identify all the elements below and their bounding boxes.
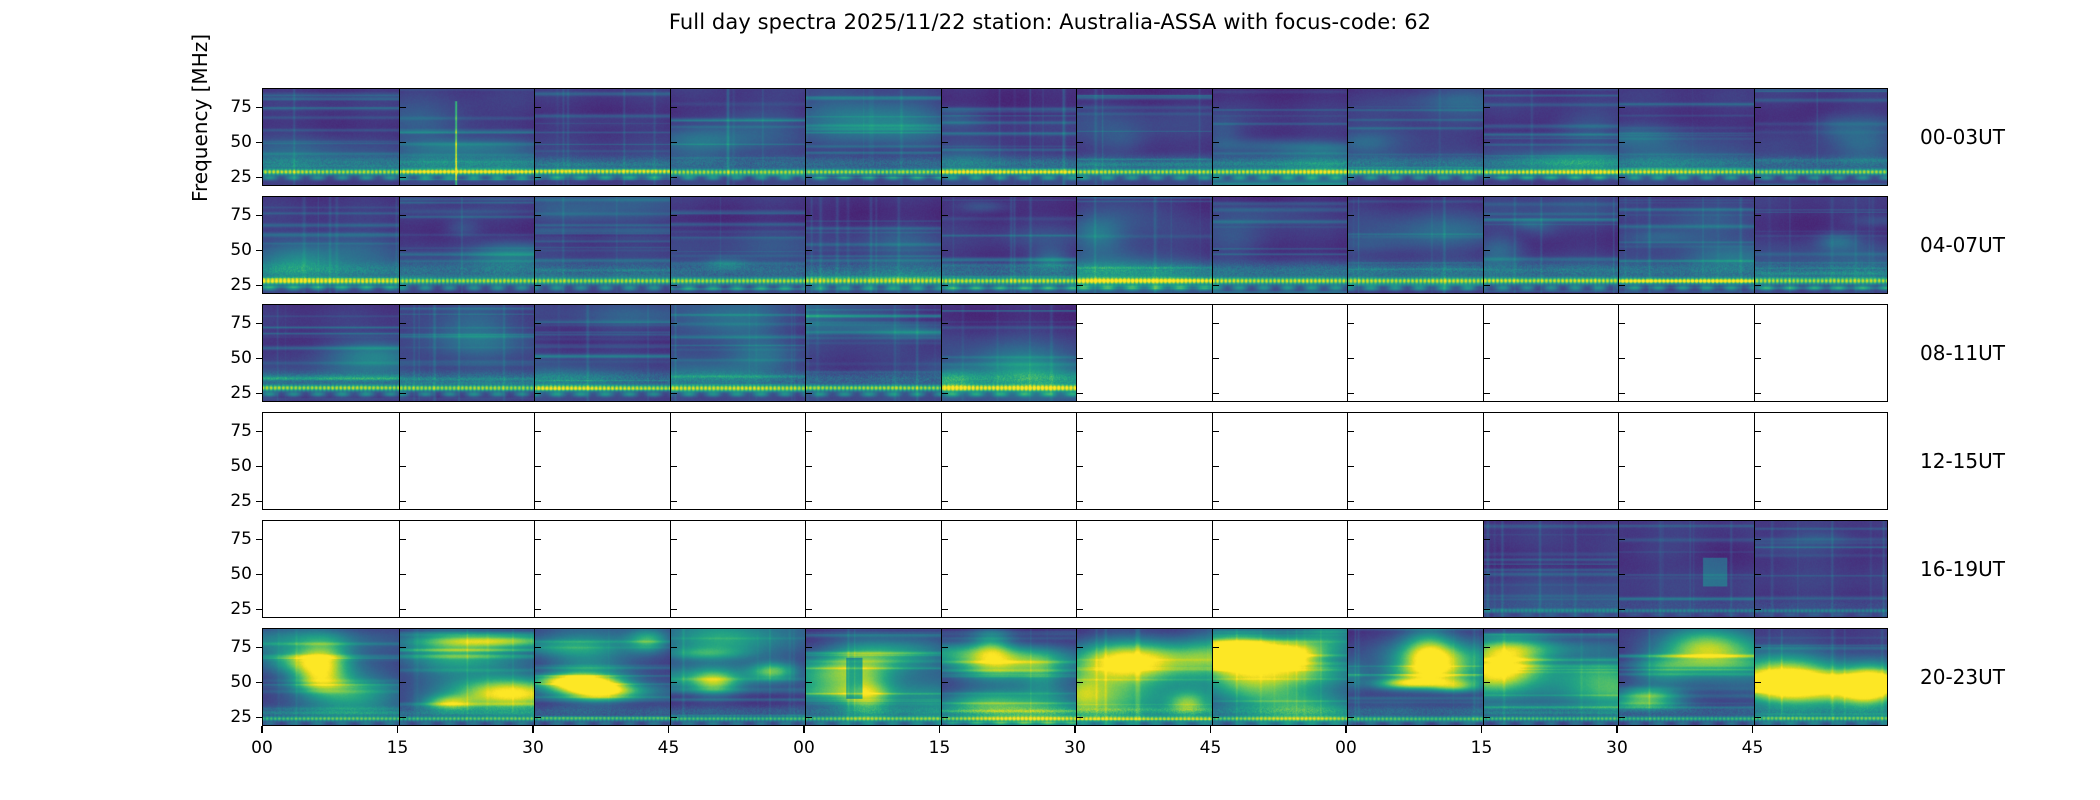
panel-separator: [941, 197, 942, 293]
panel-y-tick: [399, 285, 406, 286]
panel-y-tick: [1076, 323, 1083, 324]
spectrogram-panel-0-5: [941, 89, 1077, 185]
spectrogram-panel-2-1: [399, 305, 535, 401]
panel-separator: [534, 629, 535, 725]
panel-y-tick: [1347, 250, 1354, 251]
panel-y-tick: [1483, 647, 1490, 648]
panel-y-tick: [534, 142, 541, 143]
spectrogram-panel-2-0: [263, 305, 399, 401]
panel-y-tick: [1618, 177, 1625, 178]
panel-y-tick: [670, 250, 677, 251]
spectrogram-panel-4-9: [1483, 521, 1619, 617]
page-title: Full day spectra 2025/11/22 station: Aus…: [0, 10, 2100, 34]
panel-y-tick: [1754, 682, 1761, 683]
panel-y-tick: [1076, 107, 1083, 108]
panel-separator: [1618, 197, 1619, 293]
y-tick-label: 50: [230, 348, 252, 368]
spectrogram-panel-5-4: [805, 629, 941, 725]
panel-y-tick: [399, 177, 406, 178]
y-tick-label: 25: [230, 275, 252, 295]
panel-y-tick: [1212, 682, 1219, 683]
x-tick: [261, 726, 262, 733]
spectrogram-image: [941, 305, 1077, 401]
panel-y-tick: [805, 647, 812, 648]
panel-y-tick: [1754, 393, 1761, 394]
panel-y-tick: [1076, 250, 1083, 251]
panel-y-tick: [805, 431, 812, 432]
y-tick-label: 75: [230, 205, 252, 225]
panel-separator: [1618, 89, 1619, 185]
spectrogram-panel-0-3: [670, 89, 806, 185]
panel-separator: [670, 413, 671, 509]
panel-y-tick: [1347, 501, 1354, 502]
panel-y-tick: [1076, 647, 1083, 648]
spectrogram-image: [805, 305, 941, 401]
panel-y-tick: [1076, 501, 1083, 502]
y-tick: [256, 609, 263, 610]
spectrogram-panel-3-9: [1483, 413, 1619, 509]
panel-y-tick: [399, 539, 406, 540]
panel-y-tick: [1347, 142, 1354, 143]
panel-y-tick: [1618, 323, 1625, 324]
x-tick: [532, 726, 533, 733]
spectrogram-row-04-07ut[interactable]: 255075: [262, 196, 1888, 294]
panel-y-tick: [1076, 717, 1083, 718]
panel-y-tick: [670, 431, 677, 432]
spectrogram-image: [941, 197, 1077, 293]
panel-y-tick: [1347, 215, 1354, 216]
spectrogram-panel-3-1: [399, 413, 535, 509]
panel-y-tick: [1347, 431, 1354, 432]
y-tick: [256, 107, 263, 108]
row-label-00-03ut: 00-03UT: [1920, 125, 2005, 149]
spectrogram-image: [263, 305, 399, 401]
panel-y-tick: [941, 539, 948, 540]
x-tick-label: 30: [1064, 738, 1086, 758]
x-tick-label: 00: [251, 738, 273, 758]
x-tick-label: 15: [1471, 738, 1493, 758]
panel-y-tick: [399, 215, 406, 216]
x-tick: [1481, 726, 1482, 733]
spectrogram-panel-0-7: [1212, 89, 1348, 185]
panel-separator: [670, 629, 671, 725]
spectrogram-image: [1076, 197, 1212, 293]
spectrogram-row-20-23ut[interactable]: 255075: [262, 628, 1888, 726]
panel-y-tick: [805, 358, 812, 359]
spectrogram-panel-1-4: [805, 197, 941, 293]
panel-y-tick: [941, 574, 948, 575]
spectrogram-row-00-03ut[interactable]: 255075: [262, 88, 1888, 186]
spectrogram-panel-0-8: [1347, 89, 1483, 185]
spectrogram-image: [263, 629, 399, 725]
panel-y-tick: [399, 501, 406, 502]
spectrogram-image: [1347, 89, 1483, 185]
panel-y-tick: [399, 466, 406, 467]
panel-y-tick: [534, 177, 541, 178]
panel-separator: [1618, 305, 1619, 401]
panel-separator: [1618, 521, 1619, 617]
panel-y-tick: [534, 574, 541, 575]
spectrogram-image: [1347, 197, 1483, 293]
spectrogram-panel-4-11: [1754, 521, 1888, 617]
panel-separator: [534, 197, 535, 293]
panel-y-tick: [1212, 717, 1219, 718]
spectrogram-panel-5-3: [670, 629, 806, 725]
spectrogram-panel-1-2: [534, 197, 670, 293]
x-tick: [1210, 726, 1211, 733]
spectrogram-panel-4-6: [1076, 521, 1212, 617]
panel-separator: [534, 89, 535, 185]
panel-y-tick: [1212, 466, 1219, 467]
spectrogram-panel-3-5: [941, 413, 1077, 509]
row-label-08-11ut: 08-11UT: [1920, 341, 2005, 365]
spectrogram-panel-4-4: [805, 521, 941, 617]
panel-y-tick: [1618, 682, 1625, 683]
panel-y-tick: [1076, 215, 1083, 216]
panel-separator: [805, 413, 806, 509]
spectrogram-panel-1-1: [399, 197, 535, 293]
spectrogram-panel-1-5: [941, 197, 1077, 293]
panel-y-tick: [941, 358, 948, 359]
panel-y-tick: [670, 574, 677, 575]
y-axis-label: Frequency [MHz]: [188, 0, 212, 258]
panel-y-tick: [534, 539, 541, 540]
panel-y-tick: [1483, 431, 1490, 432]
y-tick-label: 75: [230, 97, 252, 117]
panel-y-tick: [1483, 358, 1490, 359]
spectrogram-panel-3-3: [670, 413, 806, 509]
spectrogram-image: [670, 305, 806, 401]
row-plot-area: [263, 197, 1887, 293]
panel-y-tick: [399, 358, 406, 359]
y-tick-label: 25: [230, 383, 252, 403]
panel-y-tick: [805, 466, 812, 467]
x-tick-label: 30: [1606, 738, 1628, 758]
y-tick-label: 25: [230, 491, 252, 511]
panel-y-tick: [670, 717, 677, 718]
y-tick-label: 75: [230, 529, 252, 549]
spectrogram-image: [1754, 629, 1888, 725]
panel-separator: [1212, 89, 1213, 185]
spectrogram-panel-1-11: [1754, 197, 1888, 293]
panel-y-tick: [941, 215, 948, 216]
x-tick-label: 45: [1200, 738, 1222, 758]
y-tick: [256, 177, 263, 178]
panel-y-tick: [941, 285, 948, 286]
spectrogram-row-16-19ut[interactable]: 255075: [262, 520, 1888, 618]
panel-y-tick: [805, 107, 812, 108]
panel-y-tick: [670, 358, 677, 359]
panel-y-tick: [805, 501, 812, 502]
panel-y-tick: [1076, 285, 1083, 286]
spectrogram-panel-0-9: [1483, 89, 1619, 185]
spectrogram-panel-1-10: [1618, 197, 1754, 293]
spectrogram-panel-3-4: [805, 413, 941, 509]
spectrogram-panel-2-7: [1212, 305, 1348, 401]
row-label-16-19ut: 16-19UT: [1920, 557, 2005, 581]
panel-y-tick: [1754, 250, 1761, 251]
panel-y-tick: [1212, 215, 1219, 216]
spectrogram-panel-1-9: [1483, 197, 1619, 293]
spectrogram-panel-5-6: [1076, 629, 1212, 725]
row-plot-area: [263, 305, 1887, 401]
panel-y-tick: [534, 647, 541, 648]
panel-y-tick: [1618, 574, 1625, 575]
x-tick-label: 00: [1335, 738, 1357, 758]
panel-separator: [1754, 629, 1755, 725]
panel-y-tick: [1754, 466, 1761, 467]
y-tick-label: 50: [230, 240, 252, 260]
spectrogram-image: [805, 629, 941, 725]
panel-separator: [1212, 413, 1213, 509]
spectrogram-panel-4-7: [1212, 521, 1348, 617]
panel-y-tick: [1483, 717, 1490, 718]
panel-y-tick: [1347, 682, 1354, 683]
panel-separator: [399, 521, 400, 617]
panel-y-tick: [1618, 717, 1625, 718]
spectrogram-panel-0-11: [1754, 89, 1888, 185]
panel-separator: [1483, 197, 1484, 293]
y-tick-label: 75: [230, 637, 252, 657]
x-tick: [939, 726, 940, 733]
panel-separator: [670, 197, 671, 293]
panel-y-tick: [1754, 717, 1761, 718]
spectrogram-image: [941, 89, 1077, 185]
y-tick-label: 75: [230, 421, 252, 441]
panel-y-tick: [1483, 285, 1490, 286]
panel-y-tick: [805, 393, 812, 394]
panel-y-tick: [805, 250, 812, 251]
panel-y-tick: [1754, 609, 1761, 610]
panel-separator: [1754, 197, 1755, 293]
spectrogram-panel-4-2: [534, 521, 670, 617]
y-tick: [256, 682, 263, 683]
spectrogram-image: [1754, 521, 1888, 617]
panel-y-tick: [1754, 177, 1761, 178]
panel-separator: [1212, 197, 1213, 293]
panel-y-tick: [399, 682, 406, 683]
panel-y-tick: [1618, 250, 1625, 251]
panel-y-tick: [534, 250, 541, 251]
y-tick-label: 50: [230, 132, 252, 152]
y-tick: [256, 358, 263, 359]
spectrogram-image: [1076, 629, 1212, 725]
spectrogram-image: [1212, 197, 1348, 293]
panel-y-tick: [941, 431, 948, 432]
y-tick: [256, 393, 263, 394]
panel-y-tick: [1076, 609, 1083, 610]
panel-separator: [1483, 89, 1484, 185]
panel-separator: [1347, 305, 1348, 401]
panel-y-tick: [1483, 215, 1490, 216]
y-tick-label: 50: [230, 456, 252, 476]
panel-y-tick: [1076, 393, 1083, 394]
panel-y-tick: [1754, 431, 1761, 432]
panel-y-tick: [1618, 215, 1625, 216]
panel-y-tick: [1076, 142, 1083, 143]
panel-y-tick: [1212, 107, 1219, 108]
x-tick: [1616, 726, 1617, 733]
panel-separator: [805, 89, 806, 185]
panel-y-tick: [534, 358, 541, 359]
spectrogram-image: [534, 629, 670, 725]
panel-y-tick: [1483, 466, 1490, 467]
spectrogram-panel-4-5: [941, 521, 1077, 617]
panel-y-tick: [1618, 142, 1625, 143]
x-tick-label: 15: [929, 738, 951, 758]
panel-y-tick: [805, 539, 812, 540]
panel-y-tick: [1212, 358, 1219, 359]
spectrogram-panel-0-10: [1618, 89, 1754, 185]
panel-y-tick: [1483, 250, 1490, 251]
panel-y-tick: [1076, 431, 1083, 432]
panel-y-tick: [670, 177, 677, 178]
panel-y-tick: [1754, 647, 1761, 648]
panel-separator: [399, 305, 400, 401]
spectrogram-panel-2-5: [941, 305, 1077, 401]
panel-y-tick: [1212, 393, 1219, 394]
panel-y-tick: [1754, 285, 1761, 286]
spectrogram-image: [941, 629, 1077, 725]
spectrogram-row-12-15ut[interactable]: 255075: [262, 412, 1888, 510]
panel-y-tick: [1347, 107, 1354, 108]
panel-y-tick: [1347, 539, 1354, 540]
panel-separator: [534, 413, 535, 509]
panel-y-tick: [1347, 285, 1354, 286]
panel-separator: [1212, 629, 1213, 725]
panel-y-tick: [1483, 107, 1490, 108]
spectrogram-panel-3-8: [1347, 413, 1483, 509]
panel-y-tick: [1347, 609, 1354, 610]
panel-y-tick: [1754, 358, 1761, 359]
panel-separator: [1076, 89, 1077, 185]
panel-separator: [399, 197, 400, 293]
panel-y-tick: [670, 393, 677, 394]
spectrogram-panel-3-10: [1618, 413, 1754, 509]
panel-y-tick: [1347, 358, 1354, 359]
spectrogram-panel-4-3: [670, 521, 806, 617]
spectrogram-image: [1483, 89, 1619, 185]
spectrogram-image: [399, 305, 535, 401]
panel-y-tick: [941, 466, 948, 467]
spectrogram-image: [1076, 89, 1212, 185]
panel-separator: [1076, 305, 1077, 401]
y-tick: [256, 142, 263, 143]
spectrogram-image: [1483, 629, 1619, 725]
panel-y-tick: [1347, 177, 1354, 178]
panel-separator: [670, 521, 671, 617]
panel-y-tick: [805, 574, 812, 575]
panel-y-tick: [399, 609, 406, 610]
x-tick-label: 00: [793, 738, 815, 758]
panel-y-tick: [1483, 501, 1490, 502]
panel-y-tick: [399, 393, 406, 394]
panel-separator: [805, 305, 806, 401]
spectrogram-panel-3-11: [1754, 413, 1888, 509]
panel-y-tick: [1212, 574, 1219, 575]
panel-y-tick: [1212, 609, 1219, 610]
spectrogram-panel-5-9: [1483, 629, 1619, 725]
x-tick: [1752, 726, 1753, 733]
panel-y-tick: [1618, 431, 1625, 432]
panel-y-tick: [941, 609, 948, 610]
panel-y-tick: [534, 323, 541, 324]
panel-y-tick: [534, 393, 541, 394]
spectrogram-image: [534, 197, 670, 293]
panel-y-tick: [1754, 539, 1761, 540]
panel-y-tick: [1212, 539, 1219, 540]
spectrogram-image: [1618, 521, 1754, 617]
panel-y-tick: [1212, 250, 1219, 251]
x-tick-label: 45: [1742, 738, 1764, 758]
y-tick: [256, 574, 263, 575]
panel-separator: [1483, 413, 1484, 509]
spectrogram-panel-4-10: [1618, 521, 1754, 617]
panel-y-tick: [1754, 574, 1761, 575]
panel-y-tick: [534, 717, 541, 718]
spectrogram-panel-5-7: [1212, 629, 1348, 725]
spectrogram-panel-2-10: [1618, 305, 1754, 401]
panel-y-tick: [670, 609, 677, 610]
spectrogram-panel-3-2: [534, 413, 670, 509]
panel-y-tick: [534, 285, 541, 286]
y-tick: [256, 466, 263, 467]
panel-separator: [1212, 521, 1213, 617]
spectrogram-row-08-11ut[interactable]: 255075: [262, 304, 1888, 402]
panel-y-tick: [1618, 107, 1625, 108]
panel-separator: [1483, 629, 1484, 725]
panel-y-tick: [670, 682, 677, 683]
spectrogram-image: [534, 305, 670, 401]
panel-y-tick: [1347, 393, 1354, 394]
panel-separator: [399, 629, 400, 725]
panel-separator: [1754, 521, 1755, 617]
x-tick-label: 30: [522, 738, 544, 758]
spectrogram-image: [805, 197, 941, 293]
panel-y-tick: [670, 285, 677, 286]
spectrogram-image: [263, 197, 399, 293]
spectrogram-panel-5-0: [263, 629, 399, 725]
panel-separator: [1212, 305, 1213, 401]
y-tick-label: 25: [230, 599, 252, 619]
panel-y-tick: [1212, 177, 1219, 178]
spectrogram-panel-3-7: [1212, 413, 1348, 509]
panel-y-tick: [1483, 682, 1490, 683]
y-tick: [256, 431, 263, 432]
panel-y-tick: [805, 285, 812, 286]
spectrogram-panel-2-11: [1754, 305, 1888, 401]
panel-separator: [1347, 521, 1348, 617]
spectrogram-panel-4-8: [1347, 521, 1483, 617]
panel-y-tick: [1347, 323, 1354, 324]
spectrogram-panel-5-5: [941, 629, 1077, 725]
spectrogram-panel-0-1: [399, 89, 535, 185]
row-plot-area: [263, 521, 1887, 617]
panel-y-tick: [1483, 539, 1490, 540]
panel-y-tick: [1212, 431, 1219, 432]
spectrogram-panel-0-2: [534, 89, 670, 185]
y-tick-label: 50: [230, 564, 252, 584]
y-tick: [256, 285, 263, 286]
row-plot-area: [263, 413, 1887, 509]
panel-y-tick: [1483, 609, 1490, 610]
panel-y-tick: [1618, 539, 1625, 540]
panel-separator: [399, 413, 400, 509]
spectrogram-panel-1-0: [263, 197, 399, 293]
panel-y-tick: [1754, 323, 1761, 324]
panel-separator: [1754, 305, 1755, 401]
panel-y-tick: [534, 501, 541, 502]
